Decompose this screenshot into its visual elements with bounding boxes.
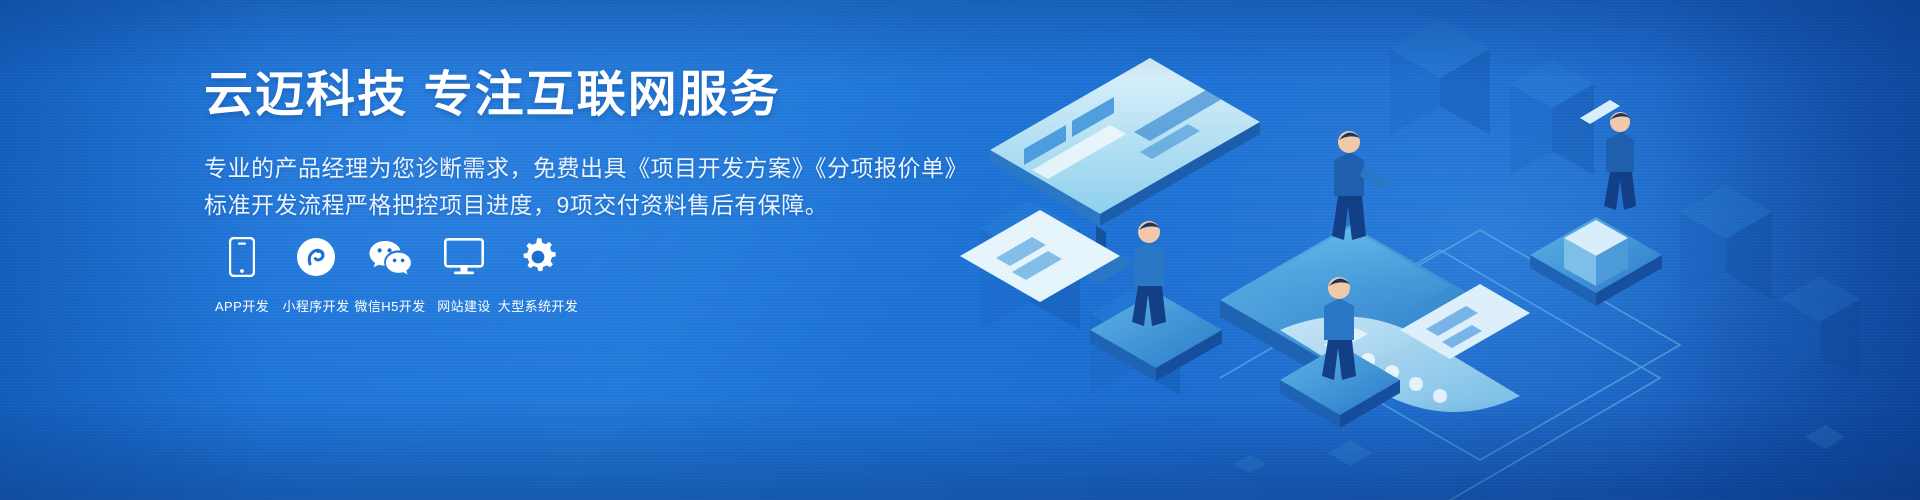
hero-banner: 云迈科技 专注互联网服务 专业的产品经理为您诊断需求，免费出具《项目开发方案》《… [0,0,1920,500]
subtitle-line-1: 专业的产品经理为您诊断需求，免费出具《项目开发方案》《分项报价单》 [204,150,924,187]
service-label: APP开发 [215,296,269,315]
service-item-app[interactable]: APP开发 [205,234,279,315]
service-label: 网站建设 [437,296,491,315]
subtitle-line-2: 标准开发流程严格把控项目进度，9项交付资料售后有保障。 [204,187,924,224]
service-list: APP开发 小程序开发 [205,234,575,315]
service-item-mini-program[interactable]: 小程序开发 [279,234,353,315]
service-item-wechat-h5[interactable]: 微信H5开发 [353,234,427,315]
service-item-large-system[interactable]: 大型系统开发 [501,234,575,315]
wechat-icon [368,234,412,280]
hero-copy: 云迈科技 专注互联网服务 专业的产品经理为您诊断需求，免费出具《项目开发方案》《… [204,68,924,224]
service-label: 微信H5开发 [354,296,425,315]
service-label: 大型系统开发 [498,296,578,315]
service-item-website[interactable]: 网站建设 [427,234,501,315]
service-label: 小程序开发 [282,296,349,315]
gear-icon [518,234,558,280]
mini-program-icon [296,234,336,280]
monitor-icon [444,234,484,280]
page-title: 云迈科技 专注互联网服务 [204,68,924,124]
isometric-illustration [920,0,1920,500]
mobile-phone-icon [229,234,255,280]
